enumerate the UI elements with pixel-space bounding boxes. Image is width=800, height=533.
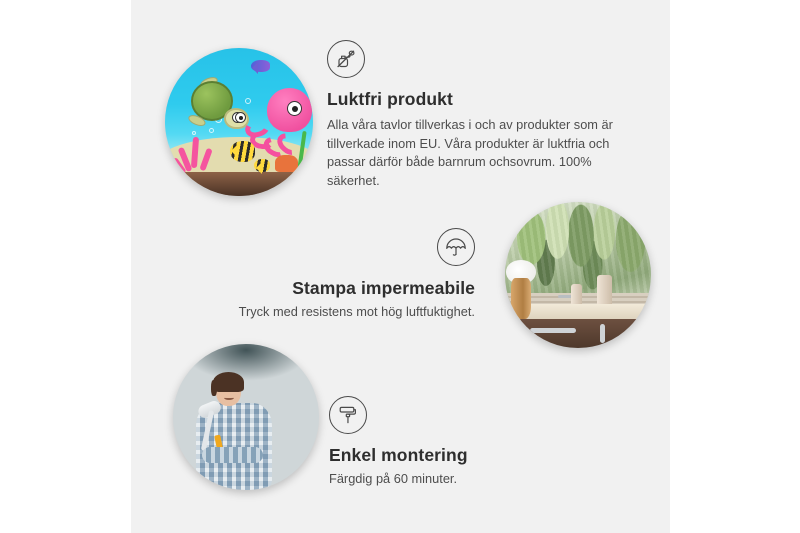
woman-figure — [196, 376, 272, 490]
woman-with-paint-roller-forest-mural-photo — [173, 344, 319, 490]
feature-title: Enkel montering — [329, 445, 589, 466]
yellow-fish-icon — [254, 159, 270, 172]
umbrella-icon — [437, 228, 475, 266]
wooden-vanity — [517, 319, 651, 348]
bathroom-tropical-wallpaper-photo — [505, 202, 651, 348]
paint-roller-icon — [329, 396, 367, 434]
feature-body: Färgdig på 60 minuter. — [329, 470, 589, 489]
feature-block-luktfri-produkt: Luktfri produkt Alla våra tavlor tillver… — [327, 40, 622, 191]
sea-turtle-icon — [187, 81, 246, 133]
underwater-cartoon-photo — [165, 48, 313, 196]
feature-body: Tryck med resistens mot hög luftfuktighe… — [201, 303, 475, 322]
product-feature-page: Luktfri produkt Alla våra tavlor tillver… — [0, 0, 800, 533]
feature-canvas: Luktfri produkt Alla våra tavlor tillver… — [131, 0, 670, 533]
coral-icon — [175, 137, 219, 181]
yellow-fish-icon — [230, 141, 255, 162]
starfish-icon — [275, 155, 299, 173]
feature-block-stampa-impermeabile: Stampa impermeabile Tryck med resistens … — [201, 228, 475, 322]
feature-title: Stampa impermeabile — [201, 278, 475, 299]
feature-title: Luktfri produkt — [327, 89, 622, 110]
feature-block-enkel-montering: Enkel montering Färgdig på 60 minuter. — [329, 396, 589, 489]
blue-fish-icon — [251, 60, 270, 72]
no-fragrance-icon — [327, 40, 365, 78]
feature-body: Alla våra tavlor tillverkas i och av pro… — [327, 116, 622, 191]
vase-icon — [511, 278, 531, 319]
